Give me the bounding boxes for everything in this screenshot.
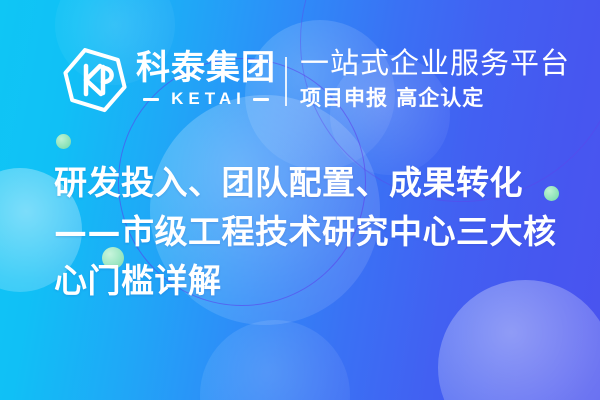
logo-rule-right [253, 98, 269, 101]
header-tagline: 一站式企业服务平台 项目申报 高企认定 [300, 45, 570, 112]
logo-chinese-name: 科泰集团 [136, 51, 276, 87]
promo-banner: 科泰集团 KETAI 一站式企业服务平台 项目申报 高企认定 研发投入、团队配置… [0, 0, 600, 400]
headline-title: 研发投入、团队配置、成果转化——市级工程技术研究中心三大核心门槛详解 [54, 158, 560, 305]
header-divider [285, 57, 287, 106]
logo-rule-left [143, 98, 159, 101]
logo-wordmark: 科泰集团 KETAI [136, 51, 276, 110]
logo-english-row: KETAI [143, 89, 269, 109]
ketai-kd-monogram-icon [62, 44, 128, 116]
brand-logo[interactable]: 科泰集团 KETAI [62, 44, 276, 116]
tagline-main-text: 一站式企业服务平台 [300, 45, 570, 81]
tagline-sub-text: 项目申报 高企认定 [300, 85, 570, 111]
decorative-circle-bottom-left [200, 320, 350, 400]
accent-dot-green-upper-left [56, 134, 71, 149]
banner-header: 科泰集团 KETAI 一站式企业服务平台 项目申报 高企认定 [0, 0, 600, 130]
logo-english-name: KETAI [166, 89, 246, 109]
